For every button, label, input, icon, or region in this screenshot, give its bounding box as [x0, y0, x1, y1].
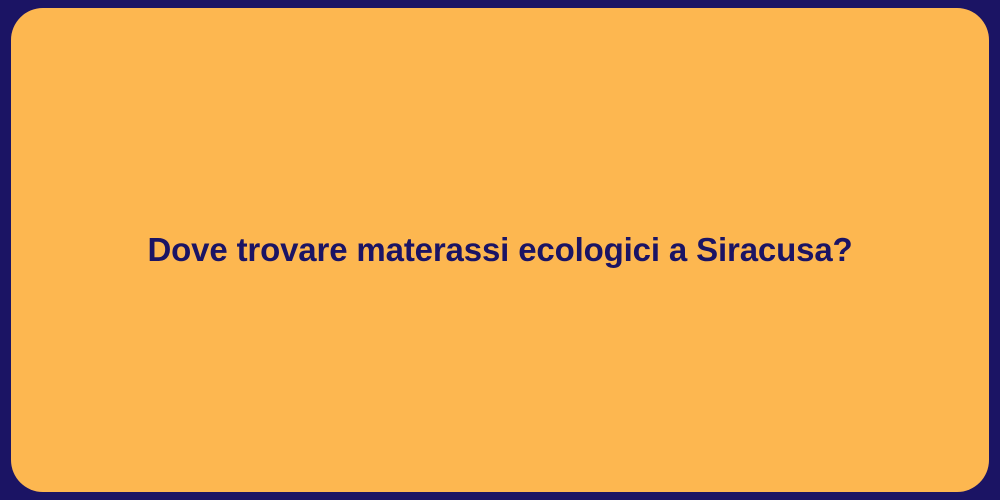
page-title: Dove trovare materassi ecologici a Sirac… — [107, 229, 892, 272]
page-frame: Dove trovare materassi ecologici a Sirac… — [0, 0, 1000, 500]
content-card: Dove trovare materassi ecologici a Sirac… — [11, 8, 989, 492]
